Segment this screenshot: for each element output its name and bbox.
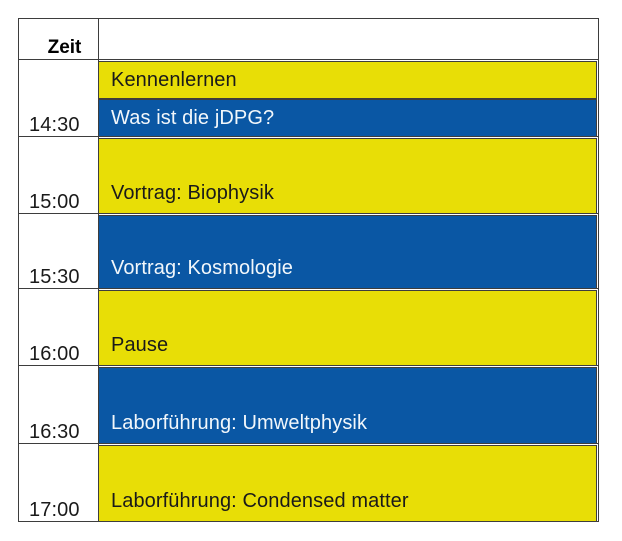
time-label: 16:00 — [19, 337, 98, 365]
event-label: Laborführung: Umweltphysik — [111, 412, 367, 435]
event-item-laborfuehrung-condensed-matter[interactable]: Laborführung: Condensed matter — [98, 445, 597, 522]
time-cell-1530: 15:30 — [19, 214, 99, 289]
table-row: 15:30 Vortrag: Kosmologie — [19, 214, 599, 289]
time-cell-1700: 17:00 — [19, 444, 99, 522]
table-row: 14:30 Kennenlernen Was ist die jDPG? — [19, 60, 599, 137]
time-label: 17:00 — [19, 493, 98, 521]
event-label: Kennenlernen — [111, 69, 237, 92]
event-item-laborfuehrung-umweltphysik[interactable]: Laborführung: Umweltphysik — [98, 367, 597, 444]
event-item-pause[interactable]: Pause — [98, 290, 597, 366]
time-label: 14:30 — [19, 108, 98, 136]
event-item-vortrag-biophysik[interactable]: Vortrag: Biophysik — [98, 138, 597, 214]
event-cell-1630: Laborführung: Umweltphysik — [99, 366, 599, 444]
time-label: 15:30 — [19, 260, 98, 288]
event-label: Was ist die jDPG? — [111, 107, 274, 130]
event-label: Laborführung: Condensed matter — [111, 490, 409, 513]
time-label: 16:30 — [19, 415, 98, 443]
column-header-time: Zeit — [19, 19, 99, 60]
time-label: 15:00 — [19, 185, 98, 213]
event-stack: Kennenlernen Was ist die jDPG? — [98, 61, 597, 137]
event-item-was-ist-die-jdpg[interactable]: Was ist die jDPG? — [98, 99, 597, 137]
schedule-table-container: Zeit 14:30 Kennenlernen — [18, 18, 598, 521]
table-row: 15:00 Vortrag: Biophysik — [19, 137, 599, 214]
event-cell-1430: Kennenlernen Was ist die jDPG? — [99, 60, 599, 137]
schedule-table: Zeit 14:30 Kennenlernen — [18, 18, 599, 522]
table-row: 16:30 Laborführung: Umweltphysik — [19, 366, 599, 444]
column-header-time-label: Zeit — [36, 37, 82, 58]
table-row: 16:00 Pause — [19, 289, 599, 366]
event-item-kennenlernen[interactable]: Kennenlernen — [98, 61, 597, 99]
time-cell-1500: 15:00 — [19, 137, 99, 214]
event-label: Vortrag: Kosmologie — [111, 257, 293, 280]
time-cell-1630: 16:30 — [19, 366, 99, 444]
time-cell-1430: 14:30 — [19, 60, 99, 137]
event-cell-1600: Pause — [99, 289, 599, 366]
schedule-table-body: 14:30 Kennenlernen Was ist die jDPG? — [19, 60, 599, 522]
time-cell-1600: 16:00 — [19, 289, 99, 366]
column-header-event — [99, 19, 599, 60]
event-cell-1500: Vortrag: Biophysik — [99, 137, 599, 214]
event-label: Pause — [111, 334, 168, 357]
table-header-row: Zeit — [19, 19, 599, 60]
table-row: 17:00 Laborführung: Condensed matter — [19, 444, 599, 522]
event-label: Vortrag: Biophysik — [111, 182, 274, 205]
event-cell-1530: Vortrag: Kosmologie — [99, 214, 599, 289]
event-item-vortrag-kosmologie[interactable]: Vortrag: Kosmologie — [98, 215, 597, 289]
event-cell-1700: Laborführung: Condensed matter — [99, 444, 599, 522]
